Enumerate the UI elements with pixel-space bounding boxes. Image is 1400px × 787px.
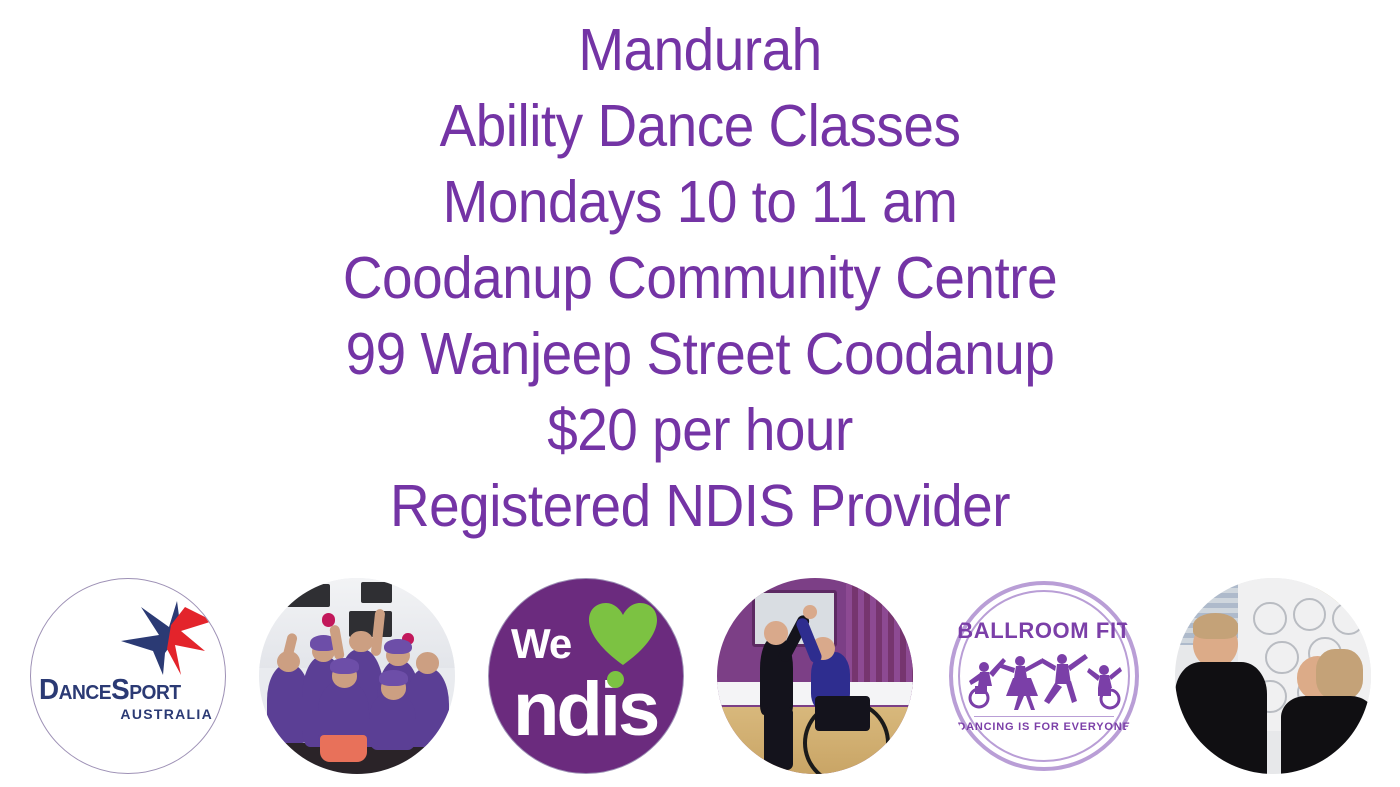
logo-ballroom-fit: BALLROOM FIT <box>946 578 1142 774</box>
flyer-line-title: Ability Dance Classes <box>49 88 1351 164</box>
ballroom-fit-tagline: DANCING IS FOR EVERYONE <box>946 721 1142 733</box>
dancers-silhouette-icon <box>962 650 1126 712</box>
logo-dancesport-australia: DanceSport AUSTRALIA <box>30 578 226 774</box>
flyer-line-schedule: Mondays 10 to 11 am <box>49 164 1351 240</box>
ballroom-fit-divider <box>974 716 1114 717</box>
logo-we-love-ndis: We ndis <box>488 578 684 774</box>
ndis-wordmark: ndis <box>513 671 657 749</box>
ndis-dot-icon <box>607 671 624 688</box>
flyer-line-location: Mandurah <box>49 12 1351 88</box>
group-photo-scene <box>259 578 455 774</box>
wheelchair-photo-scene <box>717 578 913 774</box>
flyer-page: { "flyer": { "lines": [ "Mandurah", "Abi… <box>0 0 1400 787</box>
dancesport-country: AUSTRALIA <box>39 706 219 723</box>
photo-dance-couple <box>1175 578 1371 774</box>
dance-couple-photo-scene <box>1175 578 1371 774</box>
photo-group-dancers <box>259 578 455 774</box>
ndis-we-text: We <box>511 623 571 665</box>
flyer-line-price: $20 per hour <box>49 392 1351 468</box>
dancesport-wordmark: DanceSport AUSTRALIA <box>39 675 219 723</box>
ballroom-fit-title: BALLROOM FIT <box>946 618 1142 644</box>
photo-wheelchair-dancesport <box>717 578 913 774</box>
logo-strip: DanceSport AUSTRALIA <box>30 578 1380 778</box>
dancesport-name: DanceSport <box>39 675 212 705</box>
flyer-text-block: Mandurah Ability Dance Classes Mondays 1… <box>0 12 1400 544</box>
flyer-line-address: 99 Wanjeep Street Coodanup <box>49 316 1351 392</box>
flyer-line-venue: Coodanup Community Centre <box>49 240 1351 316</box>
heart-icon <box>587 601 659 667</box>
flyer-line-provider: Registered NDIS Provider <box>49 468 1351 544</box>
dancesport-star-icon <box>119 601 215 675</box>
